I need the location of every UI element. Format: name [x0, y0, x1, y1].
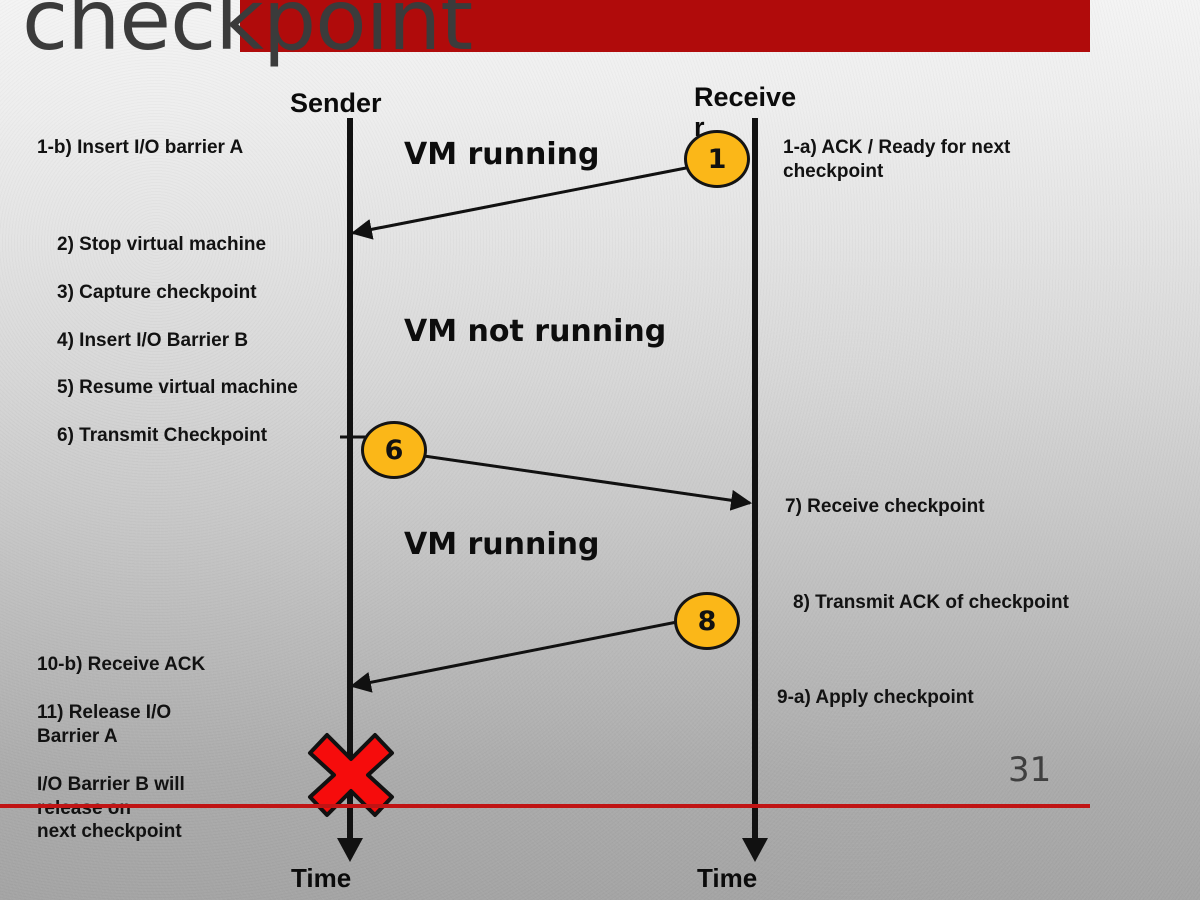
note-sender-1b: 1-b) Insert I/O barrier A — [37, 136, 243, 160]
note-sender-11: 11) Release I/O Barrier A — [37, 701, 171, 748]
lifeline-sender-arrowhead-icon — [337, 838, 363, 862]
arrow-transmit-checkpoint — [424, 456, 750, 503]
page-number: 31 — [1008, 750, 1051, 790]
time-label-sender: Time — [291, 863, 351, 894]
lifeline-receiver-arrowhead-icon — [742, 838, 768, 862]
note-sender-10b: 10-b) Receive ACK — [37, 653, 205, 677]
note-sender-5: 5) Resume virtual machine — [57, 376, 298, 400]
note-sender-2: 2) Stop virtual machine — [57, 233, 266, 257]
page-title: checkpoint — [22, 0, 472, 62]
note-sender-6: 6) Transmit Checkpoint — [57, 424, 267, 448]
note-receiver-7: 7) Receive checkpoint — [785, 495, 985, 519]
lifeline-receiver — [752, 118, 758, 843]
footer-rule — [0, 804, 1090, 808]
arrow-transmit-ack — [352, 622, 677, 686]
lifeline-header-sender: Sender — [290, 88, 382, 119]
phase-label-vm-running-1: VM running — [404, 137, 600, 172]
note-receiver-1a: 1-a) ACK / Ready for next checkpoint — [783, 136, 1010, 183]
phase-label-vm-not-running: VM not running — [404, 314, 666, 349]
note-sender-4: 4) Insert I/O Barrier B — [57, 329, 248, 353]
note-receiver-9a: 9-a) Apply checkpoint — [777, 686, 974, 710]
lifeline-header-receiver: Receive — [694, 82, 796, 113]
arrow-ack-ready — [353, 168, 686, 233]
bubble-step-6[interactable]: 6 — [361, 421, 427, 479]
note-receiver-8: 8) Transmit ACK of checkpoint — [793, 591, 1069, 615]
bubble-step-1[interactable]: 1 — [684, 130, 750, 188]
slide-canvas: checkpoint Sender Time Receive r Time VM… — [0, 0, 1200, 900]
phase-label-vm-running-2: VM running — [404, 527, 600, 562]
note-sender-3: 3) Capture checkpoint — [57, 281, 257, 305]
note-sender-barrier-b: I/O Barrier B will release on next check… — [37, 773, 185, 844]
bubble-step-8[interactable]: 8 — [674, 592, 740, 650]
time-label-receiver: Time — [697, 863, 757, 894]
